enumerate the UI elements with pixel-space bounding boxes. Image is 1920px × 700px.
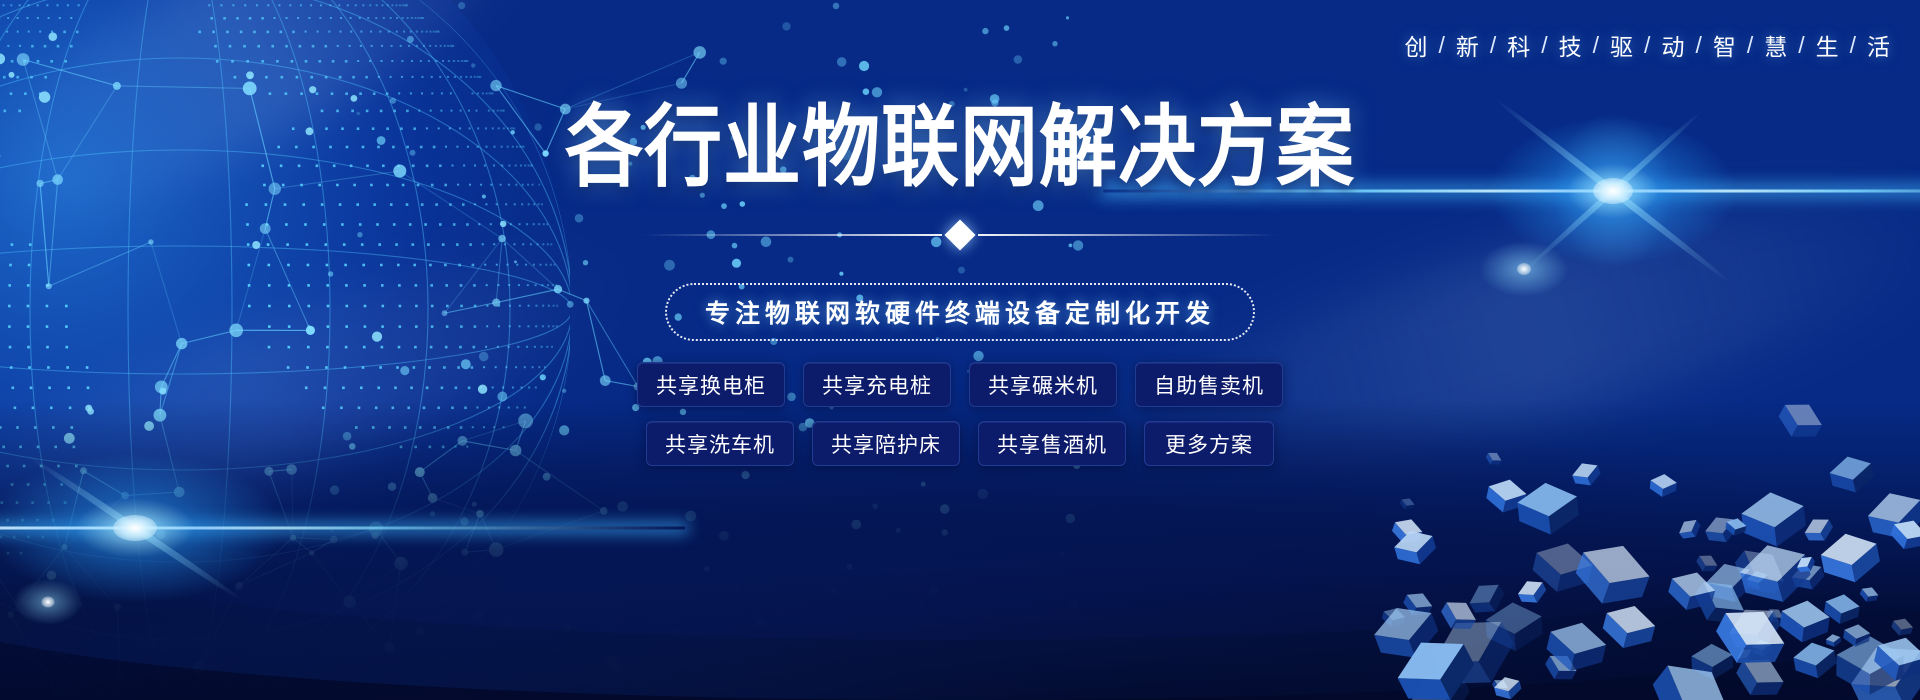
tagline-char: 活: [1866, 28, 1892, 62]
cube-icon: [1778, 598, 1831, 646]
cube-icon: [1889, 615, 1914, 639]
cube-icon: [1739, 489, 1808, 551]
tagline-char: 创: [1403, 28, 1429, 62]
solution-button[interactable]: 自助售卖机: [1135, 362, 1283, 407]
subtitle-pill: 专注物联网软硬件终端设备定制化开发: [665, 283, 1255, 341]
diamond-icon: [944, 219, 975, 250]
cube-icon: [1516, 480, 1581, 538]
cube-icon: [1818, 528, 1883, 588]
solution-button-group: 共享换电柜共享充电桩共享碾米机自助售卖机共享洗车机共享陪护床共享售酒机更多方案: [0, 362, 1920, 466]
lens-flare-icon: [1520, 265, 1528, 273]
tagline-separator: /: [1429, 32, 1454, 59]
cube-icon: [1599, 599, 1659, 654]
tagline-char: 慧: [1763, 28, 1789, 62]
solution-button[interactable]: 共享换电柜: [637, 362, 785, 407]
cube-icon: [1569, 534, 1656, 616]
cube-icon: [1492, 674, 1523, 700]
tagline-char: 智: [1712, 28, 1738, 62]
solution-button[interactable]: 共享碾米机: [969, 362, 1117, 407]
tagline: 创/新/科/技/驱/动/智/慧/生/活: [1403, 28, 1892, 62]
cube-icon: [1801, 513, 1837, 547]
divider-line-left: [642, 234, 942, 236]
cube-icon: [1858, 584, 1880, 605]
solution-button[interactable]: 共享陪护床: [812, 421, 960, 466]
divider-line-right: [978, 234, 1278, 236]
tagline-char: 驱: [1609, 28, 1635, 62]
cube-icon: [1398, 496, 1416, 513]
solution-button-row-2: 共享洗车机共享陪护床共享售酒机更多方案: [646, 421, 1274, 466]
solution-button[interactable]: 共享充电桩: [803, 362, 951, 407]
tagline-separator: /: [1841, 32, 1866, 59]
tagline-separator: /: [1532, 32, 1557, 59]
tagline-separator: /: [1686, 32, 1711, 59]
tagline-char: 动: [1660, 28, 1686, 62]
solution-button[interactable]: 共享洗车机: [646, 421, 794, 466]
tagline-separator: /: [1584, 32, 1609, 59]
tagline-separator: /: [1789, 32, 1814, 59]
cube-icon: [1735, 536, 1816, 611]
solution-button[interactable]: 更多方案: [1144, 421, 1274, 466]
solution-button[interactable]: 共享售酒机: [978, 421, 1126, 466]
tagline-separator: /: [1481, 32, 1506, 59]
iot-solution-banner: 创/新/科/技/驱/动/智/慧/生/活 各行业物联网解决方案 专注物联网软硬件终…: [0, 0, 1920, 700]
subtitle-container: 专注物联网软硬件终端设备定制化开发: [0, 283, 1920, 341]
tagline-char: 新: [1455, 28, 1481, 62]
solution-button-row-1: 共享换电柜共享充电桩共享碾米机自助售卖机: [637, 362, 1283, 407]
cube-icon: [1825, 633, 1842, 648]
tagline-char: 技: [1558, 28, 1584, 62]
floating-cubes-icon: [1320, 280, 1920, 700]
title-divider: [0, 224, 1920, 246]
tagline-separator: /: [1635, 32, 1660, 59]
tagline-separator: /: [1738, 32, 1763, 59]
cube-icon: [1649, 473, 1677, 498]
tagline-char: 科: [1506, 28, 1532, 62]
page-title: 各行业物联网解决方案: [0, 104, 1920, 193]
tagline-char: 生: [1815, 28, 1841, 62]
cube-icon: [1675, 515, 1704, 543]
